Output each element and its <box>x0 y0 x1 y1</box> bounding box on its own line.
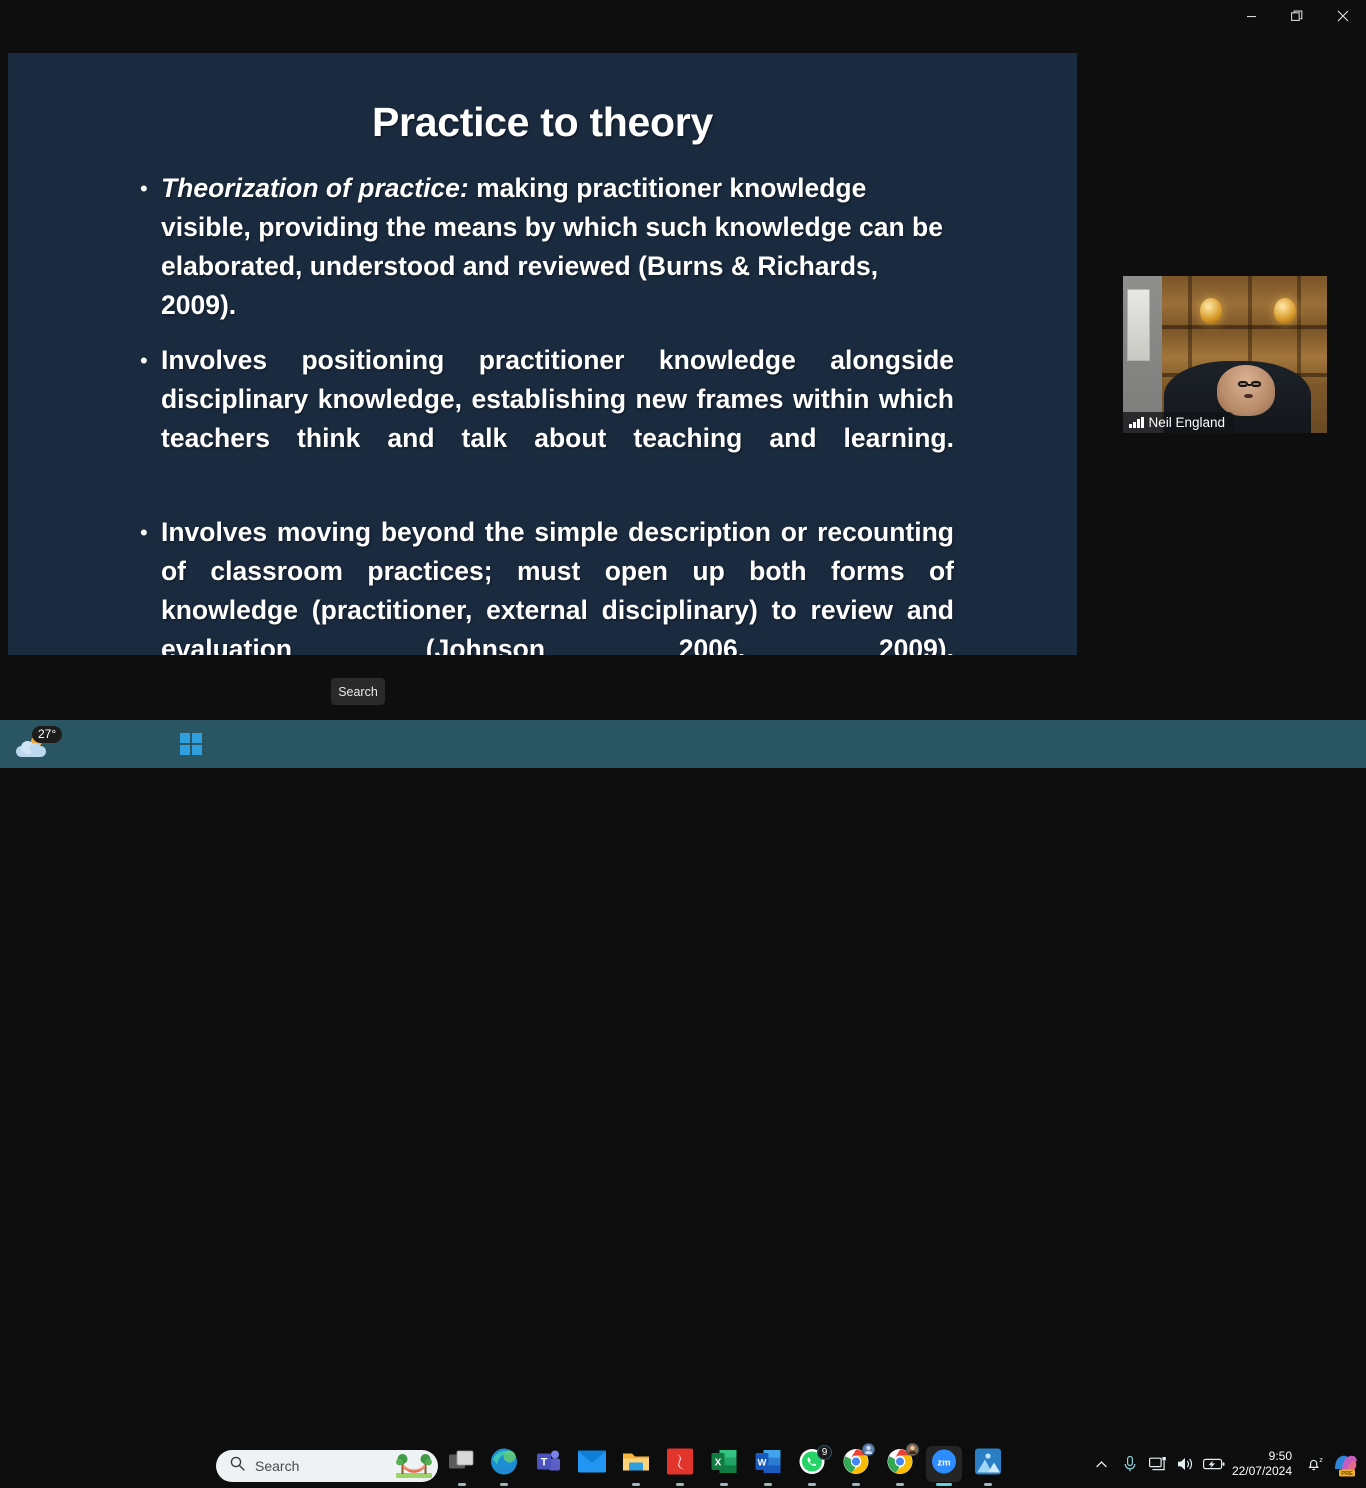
chrome-profile-avatar-2 <box>906 1443 919 1461</box>
task-view-icon <box>449 1451 475 1478</box>
svg-text:T: T <box>541 1457 548 1469</box>
speaker-icon[interactable] <box>1172 1440 1200 1488</box>
clock-time: 9:50 <box>1232 1449 1292 1464</box>
chrome-profile-avatar-1 <box>862 1443 875 1461</box>
bullet-marker-icon: • <box>134 169 161 325</box>
clock-date: 22/07/2024 <box>1232 1464 1292 1479</box>
participant-mouth <box>1244 394 1253 399</box>
taskbar-item-mail[interactable] <box>574 1446 610 1482</box>
participant-name-label: Neil England <box>1149 415 1226 430</box>
file-explorer-icon <box>622 1450 650 1479</box>
taskbar-item-google-chrome-1[interactable] <box>838 1446 874 1482</box>
bullet-1-lead: Theorization of practice: <box>161 173 469 203</box>
slide-bullet-2: • Involves positioning practitioner know… <box>134 341 954 497</box>
svg-text:z: z <box>1319 1457 1323 1464</box>
start-button[interactable] <box>178 732 204 756</box>
bullet-marker-icon: • <box>134 513 161 655</box>
close-button[interactable] <box>1320 0 1366 32</box>
svg-text:X: X <box>715 1458 722 1469</box>
windows-taskbar: 27° <box>0 720 1366 768</box>
svg-text:W: W <box>758 1458 767 1469</box>
minimize-button[interactable] <box>1228 0 1274 32</box>
mail-icon <box>578 1451 606 1478</box>
taskbar-search-box[interactable]: Search <box>216 1450 438 1482</box>
taskbar-item-google-chrome-2[interactable] <box>882 1446 918 1482</box>
shared-slide: Practice to theory • Theorization of pra… <box>8 53 1077 655</box>
svg-text:PRE: PRE <box>1341 1471 1353 1477</box>
system-tray: 9:50 22/07/2024 z PRE <box>1088 1440 1362 1488</box>
slide-bullet-1: • Theorization of practice: making pract… <box>134 169 954 325</box>
bullet-2-text: Involves positioning practitioner knowle… <box>161 341 954 497</box>
bullet-marker-icon: • <box>134 341 161 497</box>
microsoft-edge-icon <box>490 1448 518 1481</box>
taskbar-item-file-explorer[interactable] <box>618 1446 654 1482</box>
microsoft-excel-icon: X <box>712 1449 737 1479</box>
weather-widget[interactable]: 27° <box>8 724 74 764</box>
search-icon <box>230 1456 245 1476</box>
taskbar-item-task-view[interactable] <box>444 1446 480 1482</box>
zoom-screen-share-window: Practice to theory • Theorization of pra… <box>0 0 1366 720</box>
microsoft-word-icon: W <box>756 1449 781 1479</box>
weather-temperature: 27° <box>32 726 62 743</box>
taskbar-item-nitro-pdf[interactable] <box>662 1446 698 1482</box>
participant-head <box>1217 365 1276 417</box>
taskbar-item-zoom[interactable]: zm <box>926 1446 962 1482</box>
taskbar-item-microsoft-teams[interactable]: T <box>530 1446 566 1482</box>
windows-logo-icon <box>180 733 203 756</box>
network-icon[interactable] <box>1144 1440 1172 1488</box>
taskbar-item-photos[interactable] <box>970 1446 1006 1482</box>
taskbar-item-microsoft-word[interactable]: W <box>750 1446 786 1482</box>
taskbar-clock[interactable]: 9:50 22/07/2024 <box>1228 1449 1300 1479</box>
taskbar-item-microsoft-edge[interactable] <box>486 1446 522 1482</box>
participant-video-tile[interactable]: Neil England <box>1123 276 1327 433</box>
tray-overflow-button[interactable] <box>1088 1440 1116 1488</box>
taskbar-item-microsoft-excel[interactable]: X <box>706 1446 742 1482</box>
zoom-icon: zm <box>931 1449 957 1480</box>
video-background-window <box>1127 289 1149 361</box>
microsoft-teams-icon: T <box>535 1449 561 1480</box>
taskbar-item-whatsapp[interactable]: 9 <box>794 1446 830 1482</box>
restore-button[interactable] <box>1274 0 1320 32</box>
cloud-icon <box>16 741 46 757</box>
search-placeholder: Search <box>255 1458 386 1474</box>
slide-body: • Theorization of practice: making pract… <box>134 169 954 655</box>
bell-dnd-icon[interactable]: z <box>1300 1440 1328 1488</box>
battery-charging-icon[interactable] <box>1200 1440 1228 1488</box>
bullet-1-text: Theorization of practice: making practit… <box>161 169 954 325</box>
nitro-pdf-icon <box>667 1449 693 1480</box>
svg-text:zm: zm <box>937 1458 950 1469</box>
whatsapp-badge: 9 <box>817 1445 832 1460</box>
window-title-bar <box>0 0 1366 44</box>
glasses-icon <box>1238 381 1260 388</box>
microphone-icon[interactable] <box>1116 1440 1144 1488</box>
participant-name-tag: Neil England <box>1123 412 1234 433</box>
signal-bars-icon <box>1129 417 1144 428</box>
copilot-icon[interactable]: PRE <box>1328 1440 1362 1488</box>
hammock-icon <box>396 1454 432 1478</box>
photos-icon <box>975 1449 1001 1480</box>
bullet-3-text: Involves moving beyond the simple descri… <box>161 513 954 655</box>
search-button[interactable]: Search <box>331 678 385 705</box>
slide-bullet-3: • Involves moving beyond the simple desc… <box>134 513 954 655</box>
slide-title: Practice to theory <box>8 99 1077 146</box>
